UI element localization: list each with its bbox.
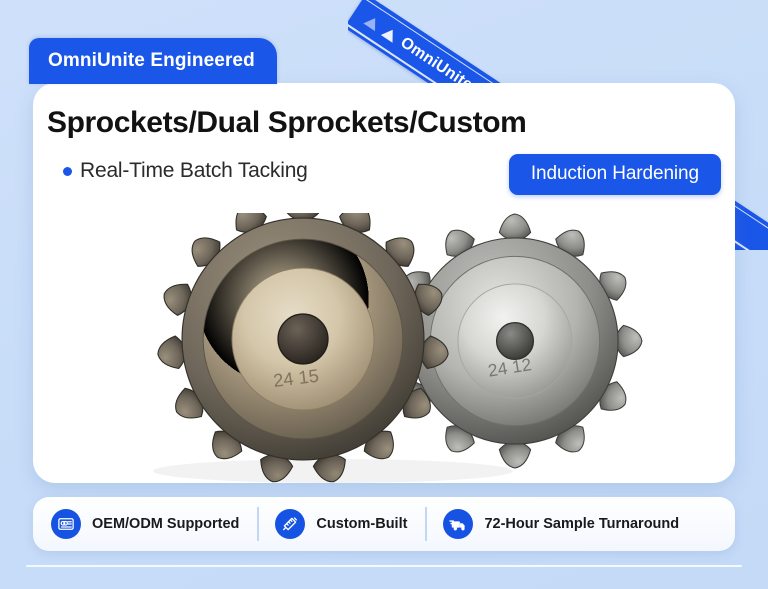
status-badge-label: Induction Hardening	[531, 163, 699, 184]
page-title: Sprockets/Dual Sprockets/Custom	[47, 106, 526, 140]
product-photo: 24 12 24 15	[33, 213, 735, 483]
brand-tab: OmniUnite Engineered	[29, 38, 277, 84]
feature-bullet: Real-Time Batch Tacking	[63, 159, 308, 183]
bullet-dot-icon	[63, 167, 72, 176]
status-badge: Induction Hardening	[509, 154, 721, 195]
certificate-card-icon	[51, 509, 81, 539]
feature-label: Custom-Built	[316, 516, 407, 532]
feature-label: OEM/ODM Supported	[92, 516, 239, 532]
triangle-arrow-icon	[364, 14, 382, 31]
feature-bar: OEM/ODM Supported Custom-Built	[33, 497, 735, 551]
feature-bullet-label: Real-Time Batch Tacking	[80, 159, 308, 183]
triangle-arrow-icon	[381, 25, 399, 42]
sprocket-left: 24 15	[156, 213, 450, 483]
product-card: Sprockets/Dual Sprockets/Custom Real-Tim…	[33, 83, 735, 483]
feature-item-custom-built: Custom-Built	[257, 507, 425, 541]
delivery-truck-icon	[443, 509, 473, 539]
feature-item-oem-odm: OEM/ODM Supported	[33, 507, 257, 541]
brand-tab-label: OmniUnite Engineered	[48, 50, 255, 72]
feature-label: 72-Hour Sample Turnaround	[484, 516, 679, 532]
ruler-pencil-icon	[275, 509, 305, 539]
bottom-divider	[26, 565, 742, 567]
feature-item-turnaround: 72-Hour Sample Turnaround	[425, 507, 697, 541]
